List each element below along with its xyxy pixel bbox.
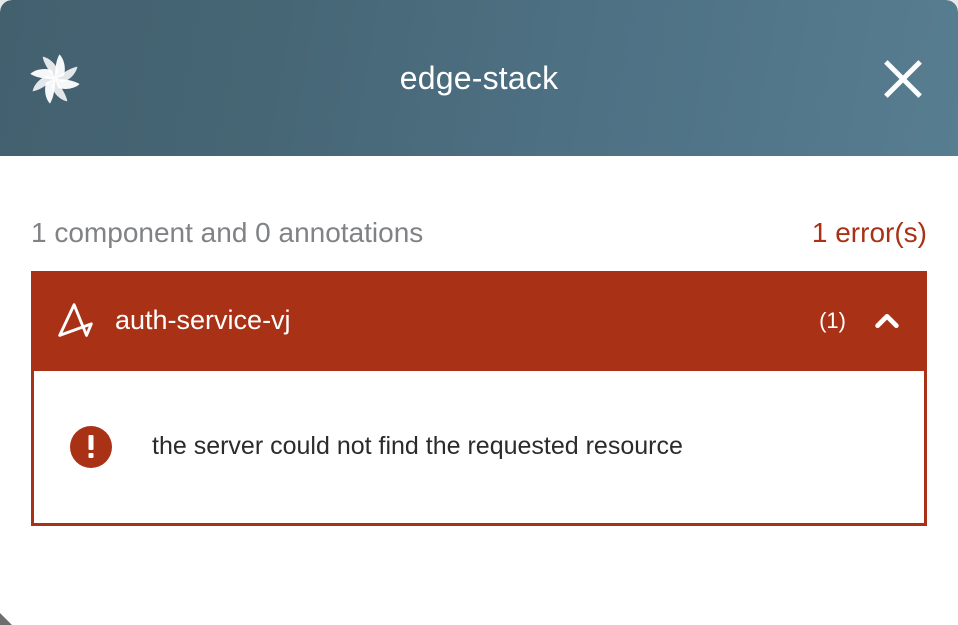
component-summary-label: 1 component and 0 annotations xyxy=(31,218,423,249)
error-count-label: 1 error(s) xyxy=(812,218,927,249)
edge-stack-modal: edge-stack 1 component and 0 annotations… xyxy=(0,0,958,625)
component-header-auth-service-vj[interactable]: auth-service-vj (1) xyxy=(31,271,927,371)
summary-row: 1 component and 0 annotations 1 error(s) xyxy=(31,156,927,269)
modal-body: 1 component and 0 annotations 1 error(s)… xyxy=(0,156,958,526)
page-title: edge-stack xyxy=(0,62,958,94)
component-detail-panel: the server could not find the requested … xyxy=(31,371,927,526)
mapping-icon xyxy=(53,298,99,344)
component-error-count-badge: (1) xyxy=(819,310,846,332)
component-name-label: auth-service-vj xyxy=(115,307,819,334)
error-exclamation-icon xyxy=(70,426,112,468)
error-message-text: the server could not find the requested … xyxy=(152,431,683,462)
resize-corner-nub xyxy=(0,609,16,625)
close-button[interactable] xyxy=(879,55,927,103)
modal-header: edge-stack xyxy=(0,0,958,156)
chevron-up-icon[interactable] xyxy=(872,306,902,336)
close-icon xyxy=(881,57,925,101)
component-card: auth-service-vj (1) the server could not… xyxy=(31,271,927,526)
ambassador-pinwheel-logo-icon xyxy=(27,51,83,107)
